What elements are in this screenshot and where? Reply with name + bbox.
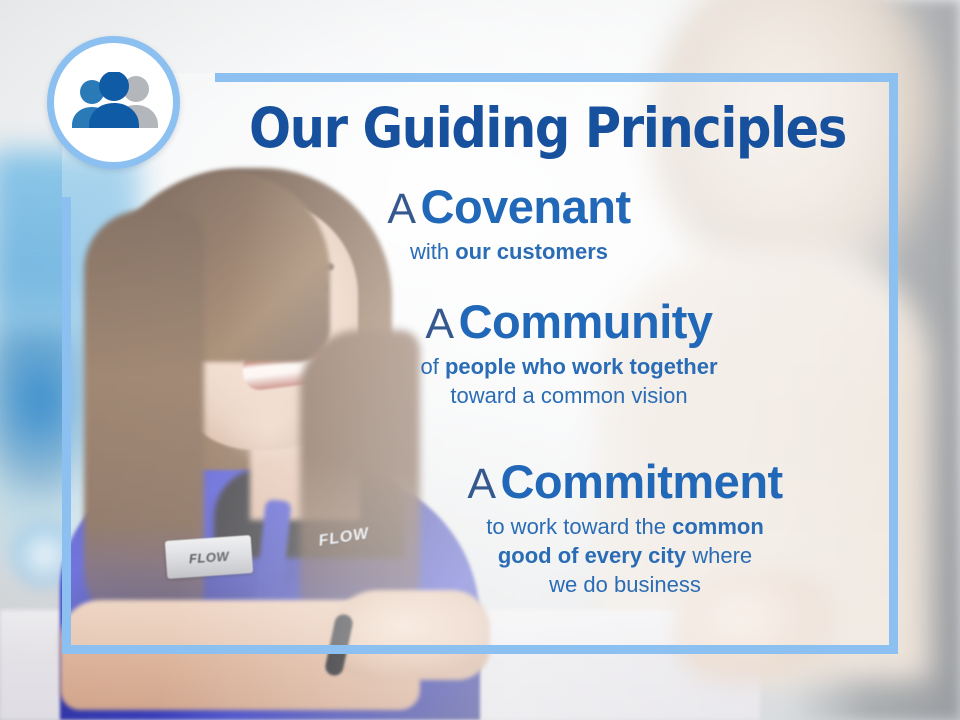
principle-headline: A Covenant	[120, 183, 898, 231]
subtext-run: with	[410, 239, 455, 264]
subtext-emphasis: common	[672, 514, 764, 539]
principle-subtext: with our customers	[120, 237, 898, 266]
subtext-emphasis: our customers	[455, 239, 608, 264]
subtext-run: to work toward the	[486, 514, 672, 539]
subtext-line: we do business	[352, 570, 898, 599]
subtext-line: with our customers	[120, 237, 898, 266]
subtext-line: to work toward the common	[352, 512, 898, 541]
subtext-run: toward a common vision	[450, 383, 687, 408]
subtext-line: good of every city where	[352, 541, 898, 570]
subtext-run: of	[420, 354, 444, 379]
principle-headline: A Commitment	[352, 458, 898, 506]
principle-commitment: A Commitment to work toward the commongo…	[62, 458, 898, 600]
principle-article: A	[387, 185, 416, 233]
guiding-principles-graphic: FLOW FLOW Our Guiding Principles	[0, 0, 960, 720]
subtext-run: we do business	[549, 572, 701, 597]
principle-covenant: A Covenant with our customers	[62, 183, 898, 266]
subtext-line: toward a common vision	[240, 381, 898, 410]
subtext-emphasis: good of every city	[498, 543, 686, 568]
subtext-run: where	[686, 543, 752, 568]
text-content: Our Guiding Principles A Covenant with o…	[62, 73, 898, 654]
principle-headline: A Community	[240, 298, 898, 346]
principle-subtext: of people who work togethertoward a comm…	[240, 352, 898, 410]
principle-article: A	[425, 300, 454, 348]
subtext-emphasis: people who work together	[445, 354, 718, 379]
principle-keyword: Commitment	[500, 455, 782, 508]
principle-community: A Community of people who work togethert…	[62, 298, 898, 410]
principle-keyword: Covenant	[421, 180, 631, 233]
page-title: Our Guiding Principles	[104, 101, 856, 156]
principle-subtext: to work toward the commongood of every c…	[352, 512, 898, 599]
principle-keyword: Community	[459, 295, 713, 348]
subtext-line: of people who work together	[240, 352, 898, 381]
principle-article: A	[467, 460, 496, 508]
